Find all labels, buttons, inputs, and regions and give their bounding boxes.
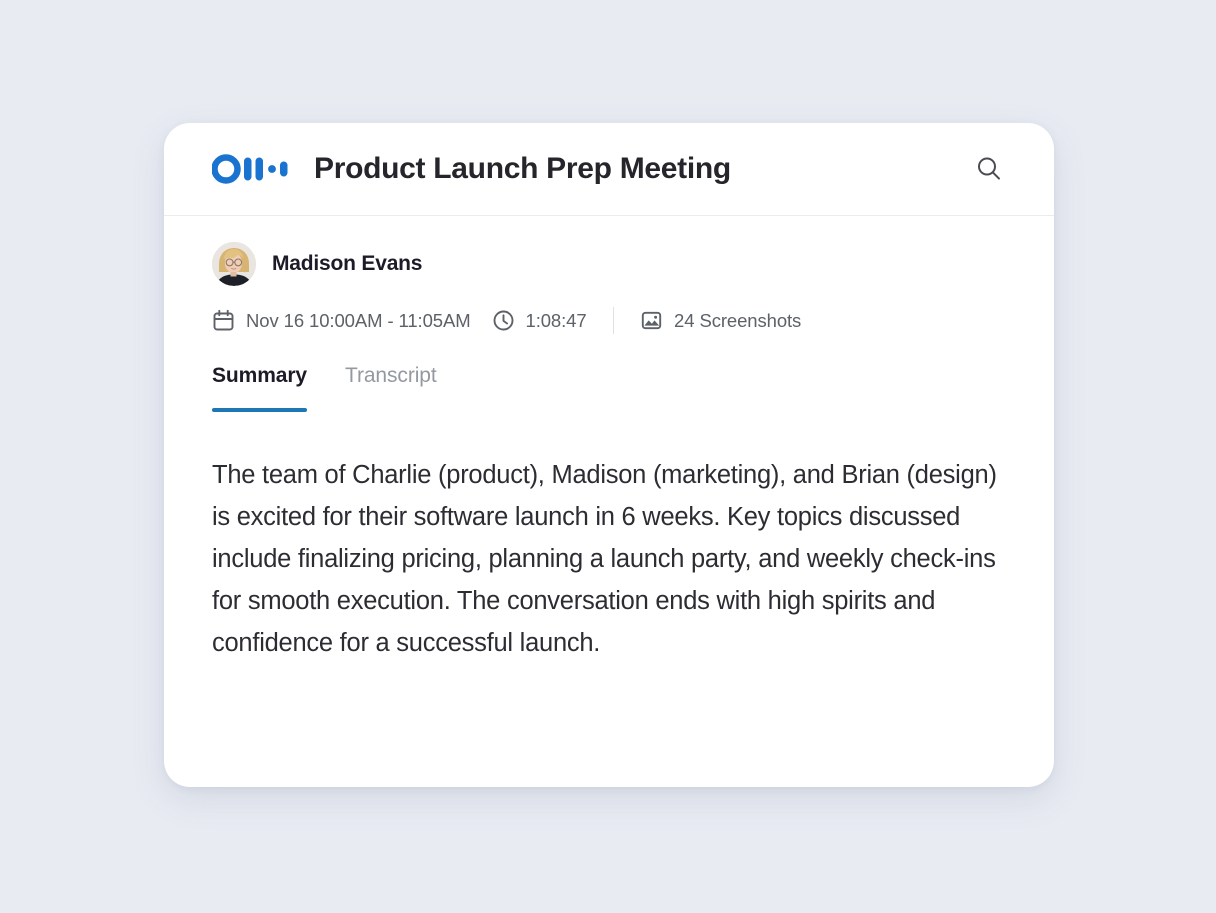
meta-item-duration: 1:08:47 xyxy=(492,309,587,332)
image-icon xyxy=(640,309,663,332)
clock-icon xyxy=(492,309,515,332)
meta-row: Nov 16 10:00AM - 11:05AM 1:08:47 xyxy=(212,307,1006,334)
tabs: Summary Transcript xyxy=(212,364,1006,412)
meta-date-label: Nov 16 10:00AM - 11:05AM xyxy=(246,310,471,332)
speaker-row: Madison Evans xyxy=(212,216,1006,286)
search-button[interactable] xyxy=(972,152,1006,186)
avatar[interactable] xyxy=(212,242,256,286)
tab-summary[interactable]: Summary xyxy=(212,364,307,412)
otter-logo[interactable] xyxy=(212,154,288,184)
page-title: Product Launch Prep Meeting xyxy=(314,152,972,186)
meta-item-date: Nov 16 10:00AM - 11:05AM xyxy=(212,309,471,332)
otter-logo-icon xyxy=(212,154,288,184)
meta-divider xyxy=(613,307,615,334)
meta-screenshots-label: 24 Screenshots xyxy=(674,310,801,332)
avatar-image xyxy=(212,242,256,286)
tab-transcript[interactable]: Transcript xyxy=(345,364,437,412)
meta-duration-label: 1:08:47 xyxy=(526,310,587,332)
meeting-card: Product Launch Prep Meeting xyxy=(164,123,1054,787)
card-header: Product Launch Prep Meeting xyxy=(164,123,1054,216)
search-icon xyxy=(975,155,1003,183)
tabs-container: Summary Transcript xyxy=(212,364,1006,412)
speaker-name: Madison Evans xyxy=(272,252,422,276)
meta-item-screenshots[interactable]: 24 Screenshots xyxy=(640,309,801,332)
card-body: Madison Evans Nov 16 10:00AM - 11:05AM xyxy=(164,216,1054,664)
summary-text: The team of Charlie (product), Madison (… xyxy=(212,454,1002,664)
calendar-icon xyxy=(212,309,235,332)
